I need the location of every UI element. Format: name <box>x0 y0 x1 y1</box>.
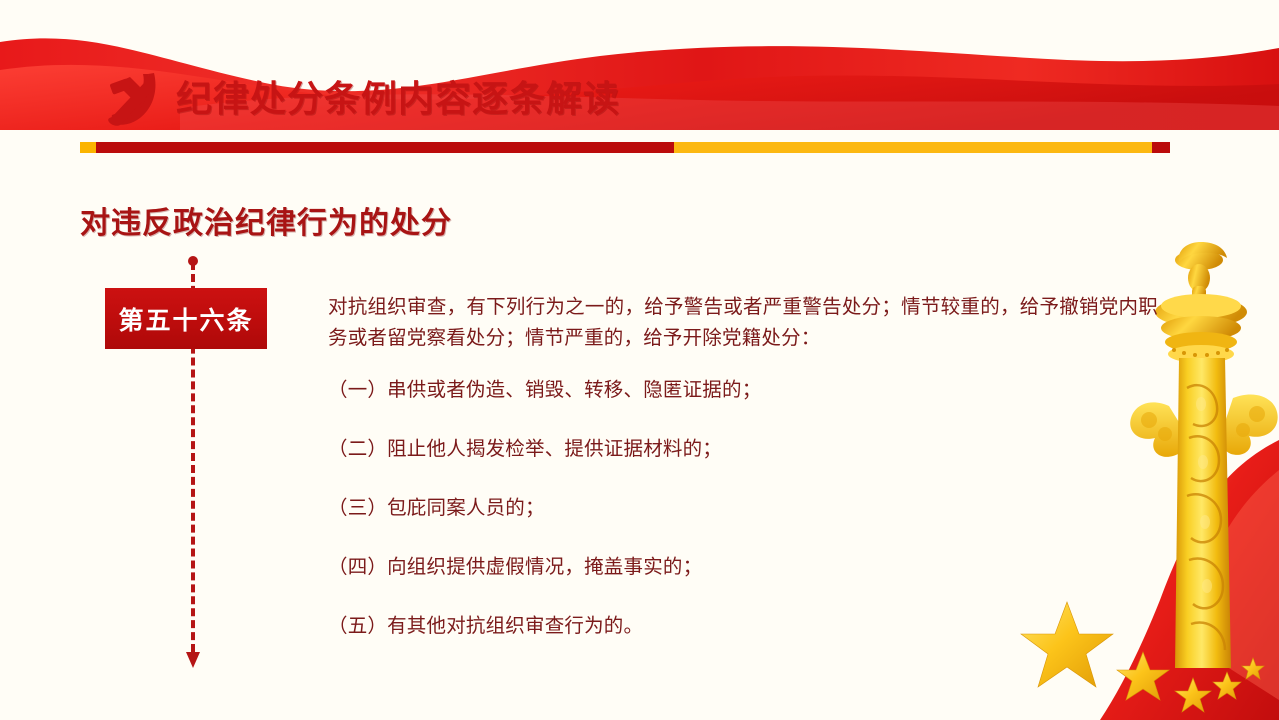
section-heading: 对违反政治纪律行为的处分 <box>80 198 452 242</box>
article-body: 对抗组织审查，有下列行为之一的，给予警告或者严重警告处分；情节较重的，给予撤销党… <box>328 292 1158 640</box>
list-item: （五）有其他对抗组织审查行为的。 <box>328 612 1158 640</box>
header-divider-bar <box>80 142 1170 153</box>
slide-header: 纪律处分条例内容逐条解读 <box>0 0 1279 170</box>
divider-segment-red-main <box>96 142 674 153</box>
list-item: （二）阻止他人揭发检举、提供证据材料的； <box>328 435 1158 463</box>
list-item: （一）串供或者伪造、销毁、转移、隐匿证据的； <box>328 376 1158 404</box>
divider-segment-yellow-main <box>674 142 1152 153</box>
clause-list: （一）串供或者伪造、销毁、转移、隐匿证据的； （二）阻止他人揭发检举、提供证据材… <box>328 376 1158 640</box>
article-intro-paragraph: 对抗组织审查，有下列行为之一的，给予警告或者严重警告处分；情节较重的，给予撤销党… <box>328 292 1158 354</box>
party-hammer-sickle-icon <box>96 63 168 135</box>
article-number-label: 第五十六条 <box>118 301 253 337</box>
divider-segment-red-right <box>1152 142 1170 153</box>
divider-segment-yellow-left <box>80 142 96 153</box>
list-item: （四）向组织提供虚假情况，掩盖事实的； <box>328 553 1158 581</box>
list-item: （三）包庇同案人员的； <box>328 494 1158 522</box>
slide-canvas: 纪律处分条例内容逐条解读 对违反政治纪律行为的处分 第五十六条 对抗组织审查，有… <box>0 0 1279 720</box>
article-number-badge: 第五十六条 <box>105 288 267 349</box>
page-title: 纪律处分条例内容逐条解读 <box>176 70 620 122</box>
connector-arrow <box>186 652 200 668</box>
